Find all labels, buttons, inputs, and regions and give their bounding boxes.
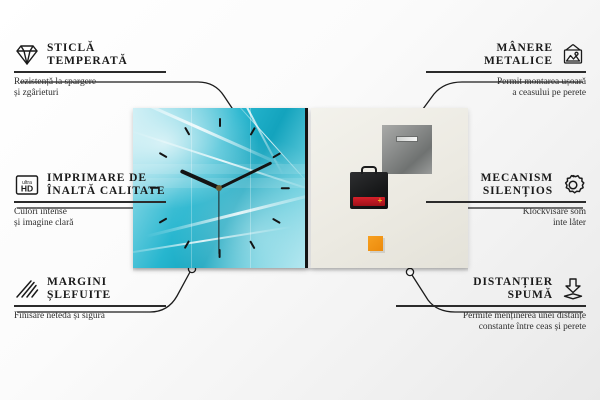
feature-divider <box>396 305 586 307</box>
feature-subtitle: Klockvisare som inte låter <box>426 207 586 229</box>
diagonal-lines-icon <box>14 277 40 301</box>
feature-title: STICLĂ TEMPERATĂ <box>47 42 128 67</box>
metal-hanger-plate <box>382 125 432 174</box>
feature-divider <box>14 71 166 73</box>
ultra-hd-icon: ultra HD <box>14 173 40 197</box>
product-shadow <box>133 268 468 272</box>
feature-silent-mechanism: MECANISM SILENȚIOS Klockvisare som inte … <box>426 172 586 229</box>
svg-text:HD: HD <box>21 183 33 193</box>
feature-divider <box>426 71 586 73</box>
picture-hanger-icon <box>560 43 586 67</box>
feature-divider <box>14 201 166 203</box>
diamond-icon <box>14 43 40 67</box>
feature-title: IMPRIMARE DE ÎNALTĂ CALITATE <box>47 172 165 197</box>
feature-divider <box>426 201 586 203</box>
hour-tick <box>272 218 281 224</box>
battery: + <box>353 197 385 206</box>
feature-title: MARGINI ȘLEFUITE <box>47 276 111 301</box>
feature-subtitle: Rezistență la spargere și zgârieturi <box>14 77 166 99</box>
product-image: + <box>133 108 468 268</box>
gear-icon <box>560 173 586 197</box>
feature-title: MÂNERE METALICE <box>484 42 553 67</box>
hour-tick <box>272 152 281 158</box>
infographic-stage: + STICLĂ TEMPERATĂ Rezistență la sparger… <box>0 0 600 400</box>
feature-title: DISTANȚIER SPUMĂ <box>473 276 553 301</box>
feature-polished-edges: MARGINI ȘLEFUITE Finisare netedă și sigu… <box>14 276 166 322</box>
feature-foam-spacer: DISTANȚIER SPUMĂ Permite menținerea unei… <box>396 276 586 333</box>
feature-subtitle: Permit montarea ușoară a ceasului pe per… <box>426 77 586 99</box>
feature-subtitle: Culori intense și imagine clară <box>14 207 166 229</box>
foam-spacer <box>368 236 383 251</box>
hour-tick <box>281 187 290 189</box>
hanger-loop <box>361 166 377 174</box>
feature-tempered-glass: STICLĂ TEMPERATĂ Rezistență la spargere … <box>14 42 166 99</box>
clock-hub <box>216 185 222 191</box>
hanger-slot <box>396 136 418 142</box>
feature-title: MECANISM SILENȚIOS <box>481 172 553 197</box>
feature-high-quality-print: ultra HD IMPRIMARE DE ÎNALTĂ CALITATE Cu… <box>14 172 166 229</box>
feature-metal-handles: MÂNERE METALICE Permit montarea ușoară a… <box>426 42 586 99</box>
clock-mechanism: + <box>350 172 388 209</box>
hour-tick <box>159 152 168 158</box>
arrow-down-layer-icon <box>560 277 586 301</box>
feature-subtitle: Finisare netedă și sigură <box>14 311 166 322</box>
hour-tick <box>219 118 221 127</box>
feature-subtitle: Permite menținerea unei distanțe constan… <box>396 311 586 333</box>
battery-plus-icon: + <box>377 198 383 204</box>
hour-tick <box>184 127 190 136</box>
feature-divider <box>14 305 166 307</box>
second-hand <box>218 188 219 254</box>
